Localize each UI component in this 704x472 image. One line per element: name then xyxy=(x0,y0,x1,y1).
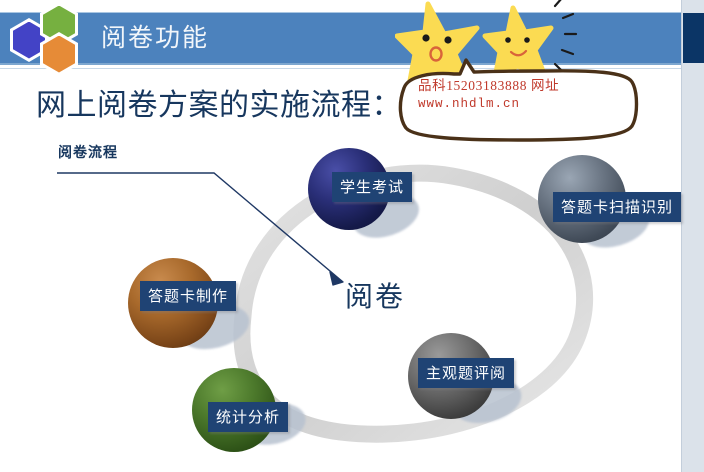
node-label-exam[interactable]: 学生考试 xyxy=(332,172,412,202)
slide-canvas: 阅卷功能 网上阅卷方案的实施流程： 阅卷流程 学生考试 答题卡制作 统计分析 答… xyxy=(0,0,704,472)
callout-label: 阅卷流程 xyxy=(58,142,118,162)
center-word: 阅卷 xyxy=(345,275,405,315)
node-label-review[interactable]: 主观题评阅 xyxy=(418,358,514,388)
node-label-card[interactable]: 答题卡制作 xyxy=(140,281,236,311)
node-label-scan[interactable]: 答题卡扫描识别 xyxy=(553,192,681,222)
bubble-line-2: www.nhdlm.cn xyxy=(418,95,628,114)
bubble-line-1: 品科15203183888 网址 xyxy=(418,76,628,95)
speech-bubble: 品科15203183888 网址 www.nhdlm.cn xyxy=(392,58,644,144)
node-label-stats[interactable]: 统计分析 xyxy=(208,402,288,432)
speech-bubble-text: 品科15203183888 网址 www.nhdlm.cn xyxy=(418,76,628,114)
